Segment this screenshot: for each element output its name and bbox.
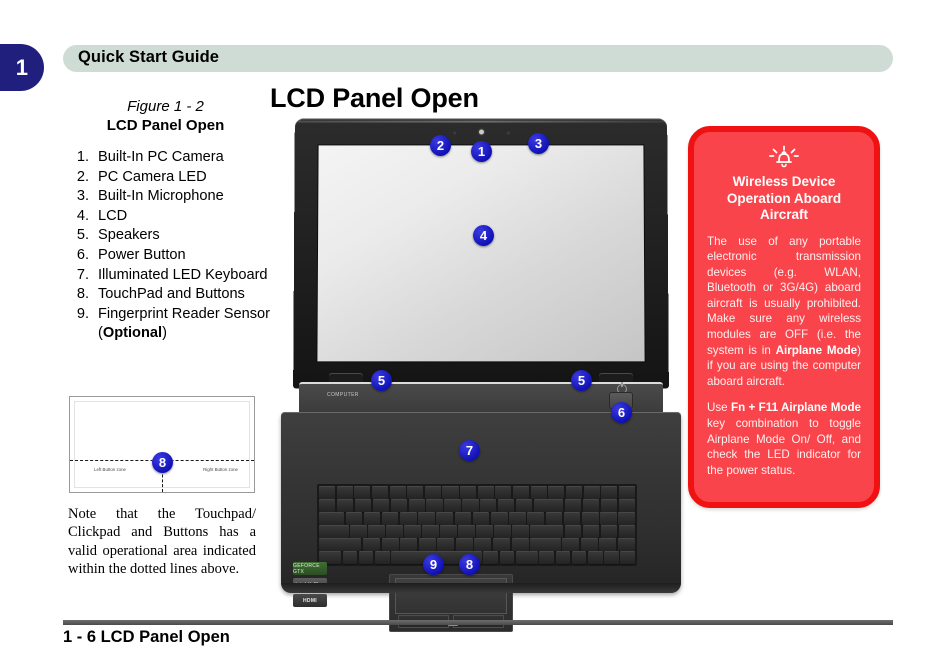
brand-label: COMPUTER (327, 392, 359, 398)
key[interactable] (355, 499, 371, 512)
key[interactable] (437, 538, 454, 551)
key[interactable] (527, 512, 544, 525)
key[interactable] (512, 538, 529, 551)
warning-box: Wireless Device Operation Aboard Aircraf… (688, 126, 880, 508)
backspace-key[interactable] (534, 499, 563, 512)
list-item-number: 4. (63, 207, 98, 227)
laptop-palmrest: GEFORCE GTX Intel X-Plus HDMI (281, 412, 681, 592)
list-item-label: Built-In Microphone (98, 187, 278, 207)
list-item-label: Power Button (98, 246, 278, 266)
warning-p2-bold: Fn + F11 Airplane Mode (731, 401, 861, 414)
key[interactable] (409, 499, 425, 512)
illuminated-led-keyboard[interactable] (317, 484, 637, 566)
list-item: 7. Illuminated LED Keyboard (63, 266, 278, 286)
key[interactable] (584, 486, 600, 499)
callout-3-built-in-microphone: 3 (528, 133, 549, 154)
key[interactable] (548, 486, 564, 499)
key[interactable] (458, 525, 474, 538)
menu-key[interactable] (500, 551, 515, 564)
key[interactable] (581, 538, 598, 551)
key[interactable] (562, 538, 579, 551)
key[interactable] (455, 512, 472, 525)
arrow-right-key[interactable] (572, 551, 587, 564)
warning-paragraph-2: Use Fn + F11 Airplane Mode key combinati… (707, 400, 861, 478)
arrow-down-key[interactable] (556, 551, 571, 564)
manual-page: 1 Quick Start Guide LCD Panel Open Figur… (0, 0, 950, 669)
key[interactable] (516, 499, 532, 512)
key[interactable] (364, 512, 381, 525)
list-item: 2. PC Camera LED (63, 168, 278, 188)
key[interactable] (436, 512, 453, 525)
key[interactable] (498, 499, 514, 512)
key[interactable] (386, 525, 402, 538)
warning-paragraph-1: The use of any portable electronic trans… (707, 234, 861, 390)
warning-p2-a: Use (707, 401, 731, 414)
footer-text: 1 - 6 LCD Panel Open (63, 628, 230, 647)
callout-5-speaker-left: 5 (371, 370, 392, 391)
right-button-zone-label: Right Button zone (203, 467, 238, 472)
lcd-screen (316, 144, 645, 362)
key[interactable] (442, 486, 458, 499)
list-item-label: Illuminated LED Keyboard (98, 266, 278, 286)
callout-7-keyboard: 7 (459, 440, 480, 461)
list-item: 4. LCD (63, 207, 278, 227)
speaker-strip: COMPUTER (299, 382, 663, 416)
key[interactable] (346, 512, 363, 525)
callout-1-built-in-pc-camera: 1 (471, 141, 492, 162)
key[interactable] (444, 499, 460, 512)
alarm-bell-icon (707, 142, 861, 172)
callout-8-touchpad: 8 (459, 554, 480, 575)
key[interactable] (425, 486, 441, 499)
key[interactable] (618, 538, 635, 551)
key[interactable] (418, 512, 435, 525)
key[interactable] (400, 512, 417, 525)
list-item-label-tail: ) (162, 325, 167, 341)
key[interactable] (319, 486, 335, 499)
list-item: 3. Built-In Microphone (63, 187, 278, 207)
right-ctrl-key[interactable] (516, 551, 538, 564)
parts-list: 1. Built-In PC Camera 2. PC Camera LED 3… (63, 148, 278, 344)
warning-p1-bold: Airplane Mode (776, 344, 858, 357)
figure-caption: Figure 1 - 2 LCD Panel Open (63, 97, 268, 135)
figure-name: LCD Panel Open (63, 116, 268, 135)
key[interactable] (476, 525, 492, 538)
touchpad-zone-figure: Left Button zone Right Button zone (69, 396, 255, 493)
key[interactable] (337, 486, 353, 499)
key[interactable] (382, 538, 399, 551)
key[interactable] (618, 512, 635, 525)
list-item: 6. Power Button (63, 246, 278, 266)
key[interactable] (337, 499, 353, 512)
key[interactable] (565, 499, 581, 512)
key[interactable] (495, 486, 511, 499)
right-shift-key[interactable] (530, 538, 561, 551)
list-item-number: 7. (63, 266, 98, 286)
key[interactable] (407, 486, 423, 499)
key[interactable] (491, 512, 508, 525)
key[interactable] (400, 538, 417, 551)
list-item-label: Built-In PC Camera (98, 148, 278, 168)
keyboard-row (319, 512, 635, 525)
key[interactable] (473, 512, 490, 525)
warning-p1-a: The use of any portable electronic trans… (707, 235, 861, 357)
key[interactable] (583, 499, 599, 512)
callout-4-lcd: 4 (473, 225, 494, 246)
callout-6-power-button: 6 (611, 402, 632, 423)
key[interactable] (582, 512, 599, 525)
key[interactable] (564, 512, 581, 525)
built-in-microphone-left-icon (453, 132, 455, 134)
figure-number: Figure 1 - 2 (63, 97, 268, 116)
list-item: 1. Built-In PC Camera (63, 148, 278, 168)
key[interactable] (478, 486, 494, 499)
alt-key[interactable] (375, 551, 390, 564)
keyboard-row (319, 486, 635, 499)
key[interactable] (382, 512, 399, 525)
touchpad-note: Note that the Touchpad/ Clickpad and But… (68, 505, 256, 579)
key[interactable] (601, 486, 617, 499)
callout-2-pc-camera-led: 2 (430, 135, 451, 156)
key[interactable] (350, 525, 366, 538)
list-item-number: 2. (63, 168, 98, 188)
windows-key[interactable] (359, 551, 374, 564)
key[interactable] (531, 486, 547, 499)
chapter-number: 1 (16, 57, 28, 79)
list-item-number: 6. (63, 246, 98, 266)
arrow-left-key[interactable] (539, 551, 554, 564)
key[interactable] (620, 551, 635, 564)
key[interactable] (319, 499, 335, 512)
list-item-number: 5. (63, 226, 98, 246)
laptop-photo: COMPUTER (277, 118, 685, 603)
list-item-number: 1. (63, 148, 98, 168)
hdmi-sticker: HDMI (293, 594, 327, 607)
key[interactable] (494, 525, 510, 538)
key[interactable] (422, 525, 438, 538)
keyboard-row (319, 499, 635, 512)
key[interactable] (604, 551, 619, 564)
key[interactable] (363, 538, 380, 551)
page-title: LCD Panel Open (270, 83, 479, 114)
shift-key[interactable] (319, 538, 361, 551)
list-item-label-bold: Optional (103, 325, 162, 341)
list-item: 5. Speakers (63, 226, 278, 246)
key[interactable] (601, 499, 617, 512)
key[interactable] (619, 499, 635, 512)
key[interactable] (583, 525, 599, 538)
warning-p2-c: key combination to toggle Airplane Mode … (707, 417, 861, 477)
list-item-number: 9. (63, 305, 98, 344)
list-item-label: LCD (98, 207, 278, 227)
caps-lock-key[interactable] (319, 525, 349, 538)
list-item-label: PC Camera LED (98, 168, 278, 188)
warning-title: Wireless Device Operation Aboard Aircraf… (707, 174, 861, 224)
gpu-sticker: GEFORCE GTX (293, 562, 327, 575)
callout-5-speaker-right: 5 (571, 370, 592, 391)
key[interactable] (419, 538, 436, 551)
list-item-number: 3. (63, 187, 98, 207)
key[interactable] (565, 525, 581, 538)
keyboard-row (319, 525, 635, 538)
key[interactable] (474, 538, 491, 551)
key[interactable] (354, 486, 370, 499)
key[interactable] (601, 525, 617, 538)
callout-9-fingerprint-reader: 9 (423, 554, 444, 575)
list-item-label: Speakers (98, 226, 278, 246)
left-button-zone-label: Left Button zone (94, 467, 126, 472)
fn-key[interactable] (343, 551, 358, 564)
list-item-label: Fingerprint Reader Sensor (Optional) (98, 305, 278, 344)
key[interactable] (368, 525, 384, 538)
key[interactable] (480, 499, 496, 512)
enter-key[interactable] (530, 525, 563, 538)
list-item-number: 8. (63, 285, 98, 305)
key[interactable] (462, 499, 478, 512)
key[interactable] (372, 486, 388, 499)
tab-key[interactable] (319, 512, 344, 525)
built-in-pc-camera-icon (479, 130, 484, 135)
key[interactable] (588, 551, 603, 564)
chapter-tab: 1 (0, 44, 44, 91)
callout-8-touchpad-figure: 8 (152, 452, 173, 473)
key[interactable] (391, 499, 407, 512)
key[interactable] (619, 486, 635, 499)
list-item: 9. Fingerprint Reader Sensor (Optional) (63, 305, 278, 344)
header-bar: Quick Start Guide (63, 45, 893, 72)
key[interactable] (512, 525, 528, 538)
key[interactable] (600, 512, 617, 525)
keyboard-row (319, 538, 635, 551)
key[interactable] (404, 525, 420, 538)
key[interactable] (509, 512, 526, 525)
list-item: 8. TouchPad and Buttons (63, 285, 278, 305)
key[interactable] (513, 486, 529, 499)
key[interactable] (599, 538, 616, 551)
key[interactable] (493, 538, 510, 551)
base-front-lip (281, 583, 681, 593)
built-in-microphone-right-icon (507, 132, 509, 134)
key[interactable] (373, 499, 389, 512)
key[interactable] (440, 525, 456, 538)
key[interactable] (390, 486, 406, 499)
key[interactable] (546, 512, 563, 525)
key[interactable] (566, 486, 582, 499)
list-item-label: TouchPad and Buttons (98, 285, 278, 305)
key[interactable] (426, 499, 442, 512)
header-title: Quick Start Guide (78, 48, 219, 67)
key[interactable] (456, 538, 473, 551)
key[interactable] (460, 486, 476, 499)
footer-rule (63, 620, 893, 625)
key[interactable] (483, 551, 498, 564)
key[interactable] (619, 525, 635, 538)
